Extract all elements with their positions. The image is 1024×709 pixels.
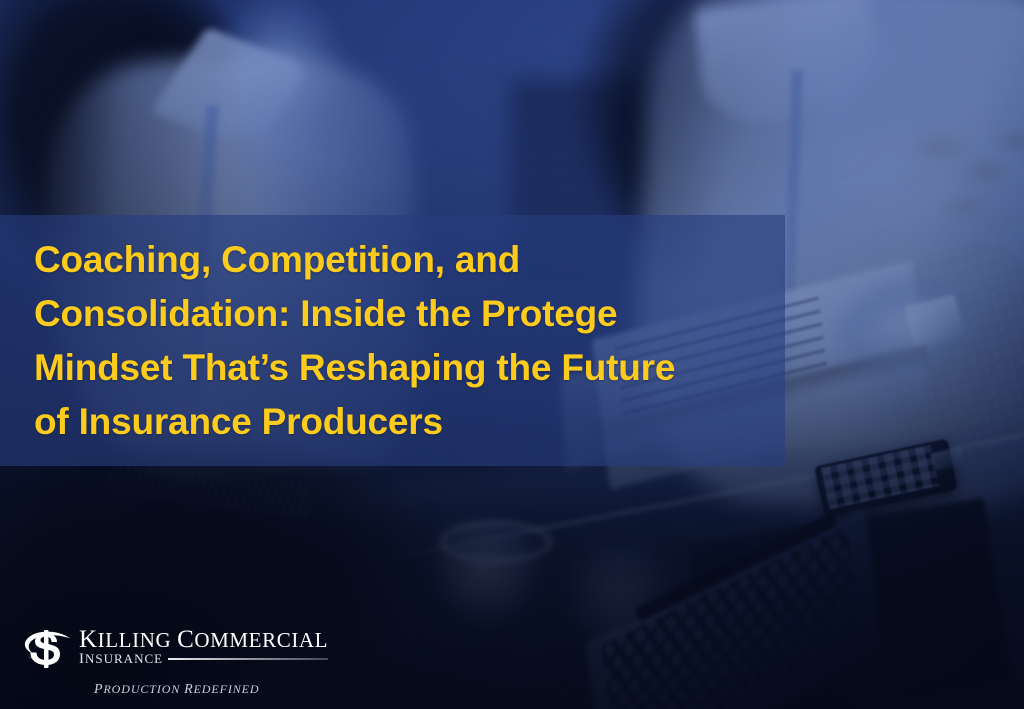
logo-divider-rule [168, 658, 328, 660]
logo-insurance-word: INSURANCE [79, 652, 163, 666]
brand-logo[interactable]: KILLING COMMERCIAL INSURANCE PRODUCTION … [22, 626, 282, 698]
logo-c-cap: C [177, 626, 194, 653]
dollar-sign-orbit-icon [22, 627, 72, 671]
tagline-redefined-rest: EDEFINED [194, 682, 260, 696]
logo-commercial-rest: OMMERCIAL [194, 628, 328, 652]
logo-secondary-row: INSURANCE [79, 652, 328, 666]
tagline-r-cap: R [184, 682, 193, 697]
tagline-production-rest: RODUCTION [103, 682, 184, 696]
title-overlay-band: Coaching, Competition, and Consolidation… [0, 215, 785, 466]
logo-k-cap: K [79, 626, 98, 653]
logo-primary-row: KILLING COMMERCIAL INSURANCE [22, 626, 282, 671]
logo-wordmark: KILLING COMMERCIAL INSURANCE [79, 626, 328, 666]
page-title: Coaching, Competition, and Consolidation… [0, 233, 705, 449]
logo-company-name: KILLING COMMERCIAL [79, 629, 328, 651]
logo-tagline: PRODUCTION REDEFINED [94, 682, 259, 698]
logo-insurance-rest: NSURANCE [85, 651, 163, 666]
blog-hero-banner: Coaching, Competition, and Consolidation… [0, 0, 1024, 709]
logo-killing-rest: ILLING [98, 628, 177, 652]
